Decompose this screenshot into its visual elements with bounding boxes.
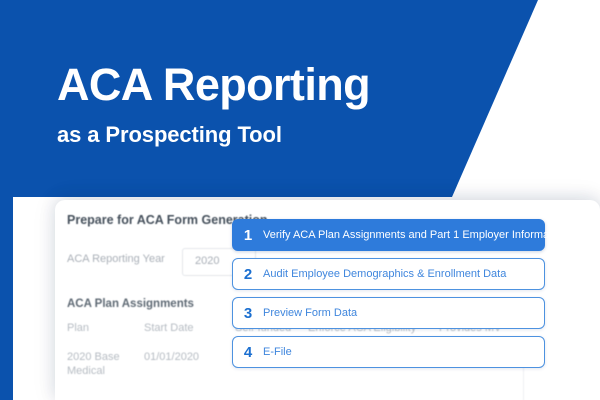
step-item-2[interactable]: 2 Audit Employee Demographics & Enrollme… (232, 258, 545, 290)
step-number: 2 (233, 267, 263, 282)
plan-assignments-heading: ACA Plan Assignments (67, 298, 194, 310)
column-header-start-date: Start Date (144, 322, 194, 334)
step-item-1[interactable]: 1 Verify ACA Plan Assignments and Part 1… (232, 219, 545, 251)
page-subtitle: as a Prospecting Tool (57, 122, 282, 148)
reporting-year-value: 2020 (195, 255, 219, 267)
cell-plan: 2020 Base Medical (67, 351, 139, 379)
step-label: E-File (263, 347, 292, 358)
slide-canvas: ACA Reporting as a Prospecting Tool Prep… (0, 0, 600, 400)
reporting-year-label: ACA Reporting Year (67, 253, 165, 265)
step-item-3[interactable]: 3 Preview Form Data (232, 297, 545, 329)
step-number: 4 (233, 345, 263, 360)
step-label: Audit Employee Demographics & Enrollment… (263, 269, 506, 280)
page-title: ACA Reporting (57, 62, 370, 109)
cell-start-date: 01/01/2020 (144, 351, 199, 365)
step-item-4[interactable]: 4 E-File (232, 336, 545, 368)
step-number: 3 (233, 306, 263, 321)
hero-accent-strip (0, 196, 13, 400)
column-header-plan: Plan (67, 322, 89, 334)
step-number: 1 (233, 228, 263, 243)
step-label: Verify ACA Plan Assignments and Part 1 E… (263, 230, 567, 241)
step-label: Preview Form Data (263, 308, 357, 319)
